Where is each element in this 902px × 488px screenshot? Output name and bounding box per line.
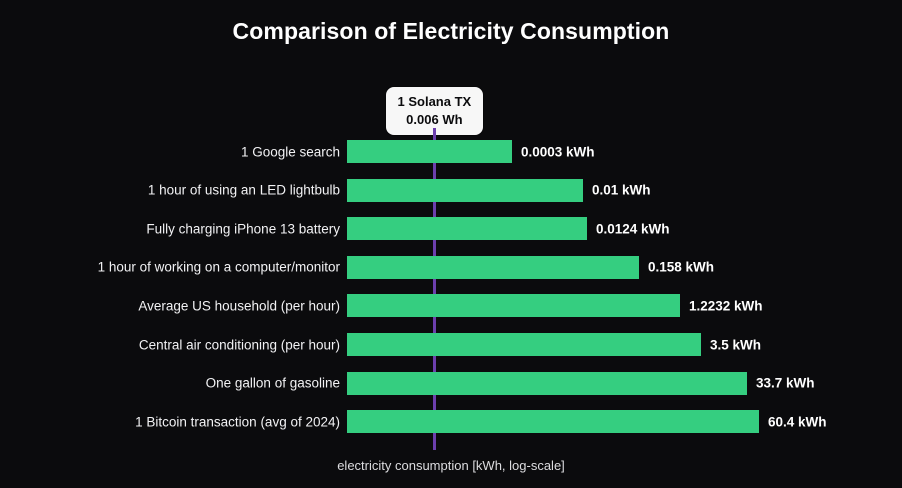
bar[interactable] <box>347 256 639 279</box>
bar-value-label: 0.0003 kWh <box>512 144 595 159</box>
bar[interactable] <box>347 410 759 433</box>
bar[interactable] <box>347 333 701 356</box>
bar-value-label: 0.01 kWh <box>583 183 651 198</box>
bar-value-label: 0.0124 kWh <box>587 221 670 236</box>
category-label: Average US household (per hour) <box>138 298 340 313</box>
bar-row: 0.01 kWh <box>347 179 847 202</box>
bar[interactable] <box>347 140 512 163</box>
category-label-slot: Fully charging iPhone 13 battery <box>0 217 340 240</box>
bar[interactable] <box>347 179 583 202</box>
category-label-slot: Average US household (per hour) <box>0 294 340 317</box>
bar-value-label: 1.2232 kWh <box>680 298 763 313</box>
bar-row: 33.7 kWh <box>347 372 847 395</box>
chart-title: Comparison of Electricity Consumption <box>0 18 902 45</box>
bar[interactable] <box>347 372 747 395</box>
plot-area: 0.0003 kWh0.01 kWh0.0124 kWh0.158 kWh1.2… <box>347 140 847 450</box>
bar-row: 0.0003 kWh <box>347 140 847 163</box>
bar-value-label: 60.4 kWh <box>759 414 827 429</box>
category-label-slot: One gallon of gasoline <box>0 372 340 395</box>
bar[interactable] <box>347 217 587 240</box>
category-label: One gallon of gasoline <box>206 376 340 391</box>
annotation-line-2: 0.006 Wh <box>398 111 472 129</box>
bar-row: 3.5 kWh <box>347 333 847 356</box>
category-label: 1 hour of working on a computer/monitor <box>98 260 340 275</box>
category-label: 1 Google search <box>241 144 340 159</box>
category-label-slot: 1 hour of working on a computer/monitor <box>0 256 340 279</box>
category-label-slot: 1 Bitcoin transaction (avg of 2024) <box>0 410 340 433</box>
bar-value-label: 3.5 kWh <box>701 337 761 352</box>
category-label: Central air conditioning (per hour) <box>139 337 340 352</box>
bar-row: 0.158 kWh <box>347 256 847 279</box>
bar-row: 60.4 kWh <box>347 410 847 433</box>
category-axis-labels: 1 Google search1 hour of using an LED li… <box>0 140 340 450</box>
bar[interactable] <box>347 294 680 317</box>
category-label: Fully charging iPhone 13 battery <box>146 221 340 236</box>
bar-value-label: 33.7 kWh <box>747 376 815 391</box>
bar-value-label: 0.158 kWh <box>639 260 714 275</box>
category-label-slot: Central air conditioning (per hour) <box>0 333 340 356</box>
category-label-slot: 1 Google search <box>0 140 340 163</box>
category-label: 1 hour of using an LED lightbulb <box>148 183 340 198</box>
bar-row: 0.0124 kWh <box>347 217 847 240</box>
x-axis-label: electricity consumption [kWh, log-scale] <box>0 458 902 473</box>
annotation-line-1: 1 Solana TX <box>398 93 472 111</box>
bar-row: 1.2232 kWh <box>347 294 847 317</box>
chart-container: Comparison of Electricity Consumption 1 … <box>0 0 902 488</box>
category-label-slot: 1 hour of using an LED lightbulb <box>0 179 340 202</box>
category-label: 1 Bitcoin transaction (avg of 2024) <box>135 414 340 429</box>
